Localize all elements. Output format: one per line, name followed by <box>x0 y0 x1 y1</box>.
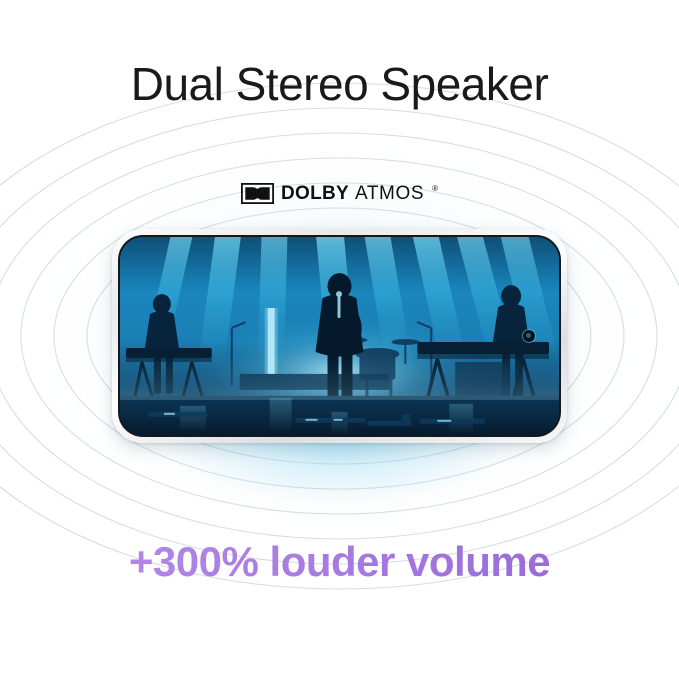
claim-text: +300% louder volume <box>0 538 679 586</box>
front-camera-punch-hole-icon <box>523 330 535 342</box>
phone-screen[interactable] <box>120 237 559 435</box>
page-title: Dual Stereo Speaker <box>0 58 679 111</box>
dolby-atmos-badge: DOLBY ATMOS ® <box>0 183 679 204</box>
device-underglow <box>120 430 560 530</box>
dolby-double-d-icon <box>241 183 274 204</box>
trademark-symbol: ® <box>432 184 438 193</box>
dolby-brand-text: DOLBY <box>281 184 349 203</box>
promo-banner: Dual Stereo Speaker DOLBY ATMOS ® <box>0 0 679 679</box>
atmos-product-text: ATMOS <box>355 184 424 203</box>
smartphone-device <box>112 229 567 443</box>
phone-bezel <box>118 235 561 437</box>
concert-scene-image <box>120 237 559 435</box>
